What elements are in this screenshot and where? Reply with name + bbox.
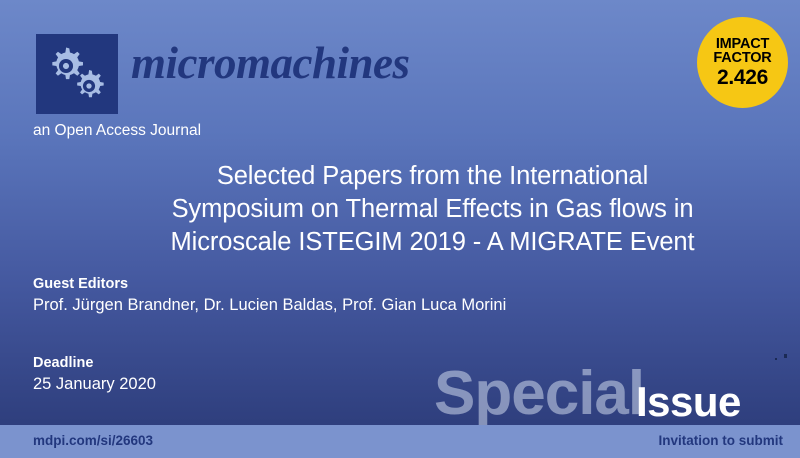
decorative-speck — [784, 354, 787, 358]
deadline-heading: Deadline — [33, 355, 156, 371]
deadline-date: 25 January 2020 — [33, 375, 156, 394]
impact-factor-value: 2.426 — [717, 67, 768, 88]
special-watermark: Special — [434, 363, 644, 425]
guest-editors-block: Guest Editors Prof. Jürgen Brandner, Dr.… — [33, 276, 506, 315]
impact-factor-badge: IMPACT FACTOR 2.426 — [697, 17, 788, 108]
journal-logo — [36, 34, 118, 114]
special-issue-poster: micromachines an Open Access Journal IMP… — [0, 0, 800, 458]
decorative-speck — [775, 358, 777, 360]
guest-editors-heading: Guest Editors — [33, 276, 506, 292]
journal-wordmark: micromachines — [131, 41, 410, 86]
special-issue-title: Selected Papers from the International S… — [160, 160, 705, 259]
gears-icon-small — [70, 67, 108, 105]
impact-factor-label-line1: IMPACT — [716, 37, 769, 52]
guest-editors-names: Prof. Jürgen Brandner, Dr. Lucien Baldas… — [33, 296, 506, 315]
issue-word: Issue — [636, 381, 741, 423]
impact-factor-label-line2: FACTOR — [713, 51, 771, 66]
invitation-to-submit[interactable]: Invitation to submit — [659, 433, 784, 448]
deadline-block: Deadline 25 January 2020 — [33, 355, 156, 394]
journal-tagline: an Open Access Journal — [33, 122, 201, 140]
footer-bar: mdpi.com/si/26603 Invitation to submit — [0, 425, 800, 458]
special-issue-url[interactable]: mdpi.com/si/26603 — [33, 433, 153, 448]
